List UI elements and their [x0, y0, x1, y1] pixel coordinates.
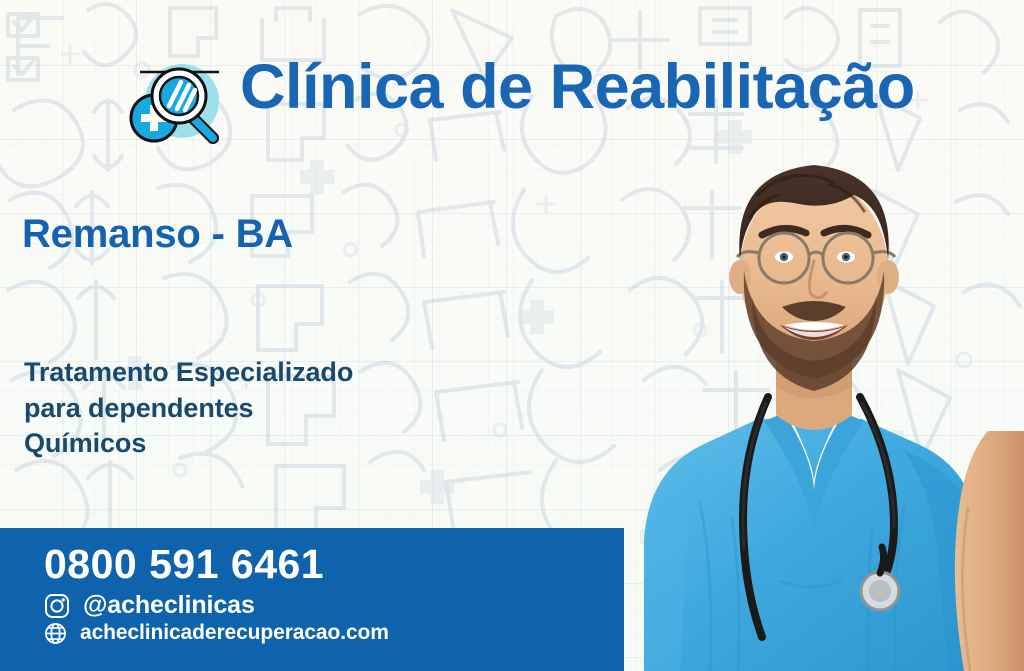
website-contact[interactable]: acheclinicaderecuperacao.com: [44, 621, 389, 645]
magnifier-plus-icon: [127, 56, 225, 151]
location-label: Remanso - BA: [22, 213, 293, 255]
tagline-line-3: Químicos: [24, 426, 353, 462]
tagline-line-1: Tratamento Especializado: [24, 355, 353, 391]
page-title: Clínica de Reabilitação: [240, 56, 915, 119]
globe-icon: [44, 622, 67, 645]
website-url: acheclinicaderecuperacao.com: [80, 621, 389, 645]
instagram-handle: @acheclinicas: [83, 591, 255, 620]
tagline: Tratamento Especializado para dependente…: [24, 355, 353, 462]
advertisement-banner: Clínica de Reabilitação Remanso - BA Tra…: [0, 0, 1024, 671]
instagram-icon: [44, 593, 70, 619]
tagline-line-2: para dependentes: [24, 391, 353, 427]
instagram-contact[interactable]: @acheclinicas: [44, 591, 255, 620]
phone-number[interactable]: 0800 591 6461: [44, 544, 324, 585]
